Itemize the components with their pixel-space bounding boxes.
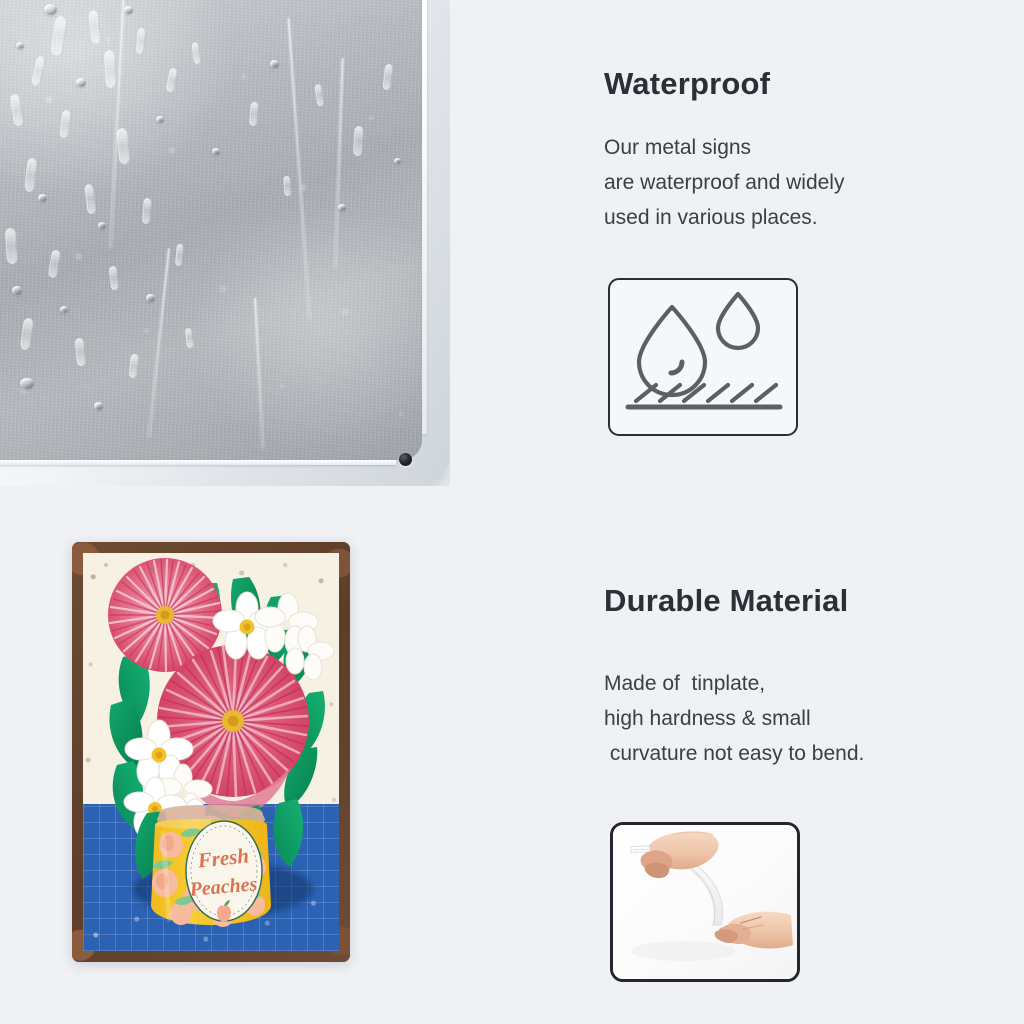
waterproof-body-line-2: are waterproof and widely: [604, 165, 844, 200]
waterproof-title: Waterproof: [604, 66, 770, 102]
waterproof-body-line-3: used in various places.: [604, 200, 844, 235]
water-droplet: [12, 286, 22, 295]
infographic-canvas: Fresh Peaches Waterproof Our metal signs…: [0, 0, 1024, 1024]
hands-bending-sheet-photo: [610, 822, 800, 982]
water-droplet: [94, 402, 103, 410]
water-droplet: [394, 158, 401, 164]
water-droplet: [98, 222, 106, 229]
water-droplet: [270, 60, 279, 68]
waterproof-icon-art: [610, 280, 796, 434]
water-droplet: [283, 176, 291, 196]
water-droplet: [146, 294, 155, 302]
water-droplet: [104, 50, 117, 89]
water-droplet: [124, 6, 133, 14]
water-droplet: [338, 204, 346, 211]
durable-body-line-1: Made of tinplate,: [604, 666, 864, 701]
water-droplet: [353, 126, 364, 156]
water-droplet: [60, 306, 68, 313]
feature-panel-waterproof: Waterproof: [604, 66, 770, 102]
metal-plate-surface: [0, 0, 422, 460]
tin-sign-artwork: Fresh Peaches: [83, 553, 339, 951]
water-droplet: [156, 116, 164, 123]
fresh-peaches-jar: Fresh Peaches: [151, 805, 271, 927]
water-droplet: [16, 42, 24, 49]
fresh-peaches-flower-tin-sign: Fresh Peaches: [72, 542, 350, 962]
water-droplet: [76, 78, 86, 87]
durable-material-description: Made of tinplate, high hardness & small …: [604, 666, 864, 771]
durable-material-title: Durable Material: [604, 583, 848, 619]
water-droplet: [249, 102, 259, 126]
durable-body-line-3: curvature not easy to bend.: [604, 736, 864, 771]
flower-bouquet-illustration: Fresh Peaches: [83, 553, 339, 951]
water-droplet: [44, 4, 57, 15]
waterproof-description: Our metal signs are waterproof and widel…: [604, 130, 844, 235]
water-droplet: [20, 378, 34, 389]
wet-metal-plate-photo: [0, 0, 450, 486]
waterproof-droplet-icon: [608, 278, 798, 436]
metal-plate-edge-highlight: [422, 0, 427, 434]
mounting-hole: [399, 453, 412, 466]
durable-body-line-2: high hardness & small: [604, 701, 864, 736]
water-droplet: [212, 148, 220, 155]
metal-texture-grain: [0, 0, 422, 460]
metal-plate-edge-highlight: [0, 460, 396, 465]
water-droplet: [38, 194, 47, 202]
waterproof-body-line-1: Our metal signs: [604, 130, 844, 165]
bending-sheet-art: [613, 825, 797, 979]
feature-panel-durable-material: Durable Material: [604, 583, 848, 619]
